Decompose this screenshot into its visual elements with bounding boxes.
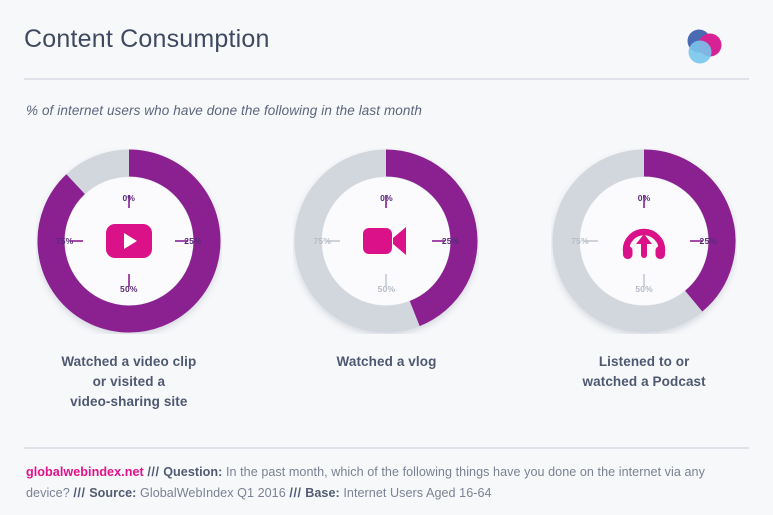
- tick-25-chart3: 25%: [700, 236, 718, 246]
- footer-separator: ///: [73, 486, 85, 500]
- header: Content Consumption: [24, 22, 749, 78]
- chart-label-video-clip: Watched a video clip or visited a video-…: [61, 352, 196, 412]
- tick-75-chart1: 75%: [56, 236, 74, 246]
- chart-label-line: watched a Podcast: [583, 372, 706, 392]
- footer-separator: ///: [289, 486, 301, 500]
- donut-vlog: 0% 25% 50% 75%: [293, 148, 479, 334]
- chart-label-line: Watched a video clip: [61, 352, 196, 372]
- footer-base-text: Internet Users Aged 16-64: [343, 486, 491, 500]
- footer-base-label: Base:: [305, 486, 340, 500]
- header-divider: [24, 78, 749, 80]
- chart-vlog: 0% 25% 50% 75% Watched a vlog: [264, 148, 509, 372]
- chart-label-vlog: Watched a vlog: [337, 352, 437, 372]
- tick-75-chart2: 75%: [313, 236, 331, 246]
- footer-question-label: Question:: [163, 465, 222, 479]
- tick-50-chart1: 50%: [120, 284, 138, 294]
- tick-50-chart2: 50%: [378, 284, 396, 294]
- footer-source-text: GlobalWebIndex Q1 2016: [140, 486, 286, 500]
- tick-75-chart3: 75%: [571, 236, 589, 246]
- chart-podcast: 0% 25% 50% 75% Listened to or watched a …: [522, 148, 767, 392]
- chart-label-line: Watched a vlog: [337, 352, 437, 372]
- chart-label-podcast: Listened to or watched a Podcast: [583, 352, 706, 392]
- infographic-page: Content Consumption % of internet users …: [0, 0, 773, 515]
- tick-25-chart2: 25%: [442, 236, 460, 246]
- chart-video-clip: 0% 25% 50% 75% Watched a video clip or v…: [6, 148, 251, 412]
- subtitle: % of internet users who have done the fo…: [26, 103, 422, 118]
- chart-label-line: Listened to or: [583, 352, 706, 372]
- footer-brand-link[interactable]: globalwebindex.net: [26, 465, 144, 479]
- tick-0-chart1: 0%: [122, 193, 135, 203]
- tick-25-chart1: 25%: [184, 236, 202, 246]
- page-title: Content Consumption: [24, 22, 270, 56]
- donut-podcast: 0% 25% 50% 75%: [551, 148, 737, 334]
- footer-separator: ///: [147, 465, 159, 479]
- donut-video-clip: 0% 25% 50% 75%: [36, 148, 222, 334]
- footer-source-label: Source:: [89, 486, 136, 500]
- chart-label-line: or visited a: [61, 372, 196, 392]
- tick-0-chart3: 0%: [638, 193, 651, 203]
- tick-50-chart3: 50%: [635, 284, 653, 294]
- footer-note: globalwebindex.net /// Question: In the …: [26, 462, 751, 504]
- tick-0-chart2: 0%: [380, 193, 393, 203]
- chart-label-line: video-sharing site: [61, 392, 196, 412]
- footer-divider: [24, 447, 749, 449]
- donut-chart-group: 0% 25% 50% 75% Watched a video clip or v…: [0, 148, 773, 418]
- globalwebindex-logo: [681, 24, 727, 70]
